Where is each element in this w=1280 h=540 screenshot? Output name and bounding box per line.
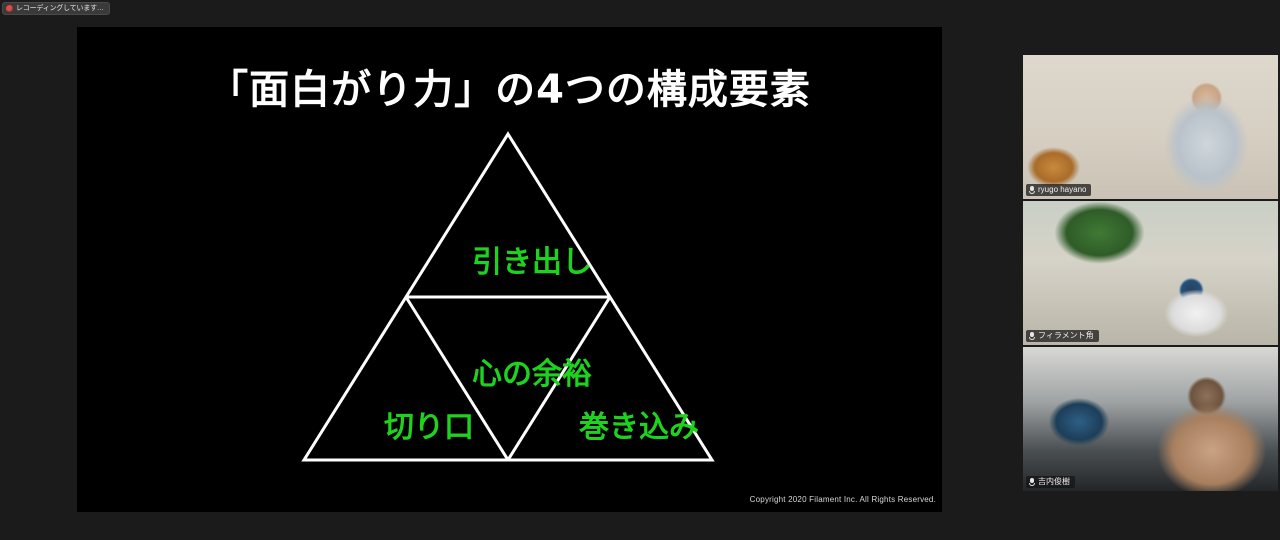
nameplate-2: フィラメント角: [1026, 330, 1099, 342]
video-feed-3: [1023, 347, 1278, 491]
recording-label: レコーディングしています…: [16, 5, 104, 12]
slide-copyright: Copyright 2020 Filament Inc. All Rights …: [750, 495, 936, 504]
shared-screen-stage[interactable]: 「面白がり力」の4つの構成要素 引き出し 心の余裕 切り口 巻き込み Copyr…: [77, 27, 942, 512]
video-feed-2: [1023, 201, 1278, 345]
meeting-window: レコーディングしています… 「面白がり力」の4つの構成要素 引き出し 心の余裕 …: [0, 0, 1280, 540]
participant-name: 吉内俊樹: [1038, 477, 1070, 487]
label-kokoro-no-yoyu: 心の余裕: [432, 349, 632, 393]
participant-tile-2[interactable]: フィラメント角: [1023, 201, 1278, 345]
label-kirikuchi: 切り口: [339, 402, 519, 446]
video-feed-1: [1023, 55, 1278, 199]
nameplate-1: ryugo hayano: [1026, 184, 1091, 196]
participant-name: フィラメント角: [1038, 331, 1094, 341]
nameplate-3: 吉内俊樹: [1026, 476, 1075, 488]
participant-filmstrip: ryugo hayano フィラメント角 吉内俊樹: [1023, 55, 1278, 491]
label-makikomi: 巻き込み: [539, 402, 739, 446]
participant-tile-3[interactable]: 吉内俊樹: [1023, 347, 1278, 491]
participant-name: ryugo hayano: [1038, 185, 1086, 195]
participant-tile-1[interactable]: ryugo hayano: [1023, 55, 1278, 199]
microphone-icon: [1029, 478, 1035, 487]
label-hikidashi: 引き出し: [432, 237, 632, 281]
recording-indicator[interactable]: レコーディングしています…: [2, 2, 110, 15]
microphone-icon: [1029, 332, 1035, 341]
microphone-icon: [1029, 186, 1035, 195]
record-dot-icon: [6, 5, 13, 12]
